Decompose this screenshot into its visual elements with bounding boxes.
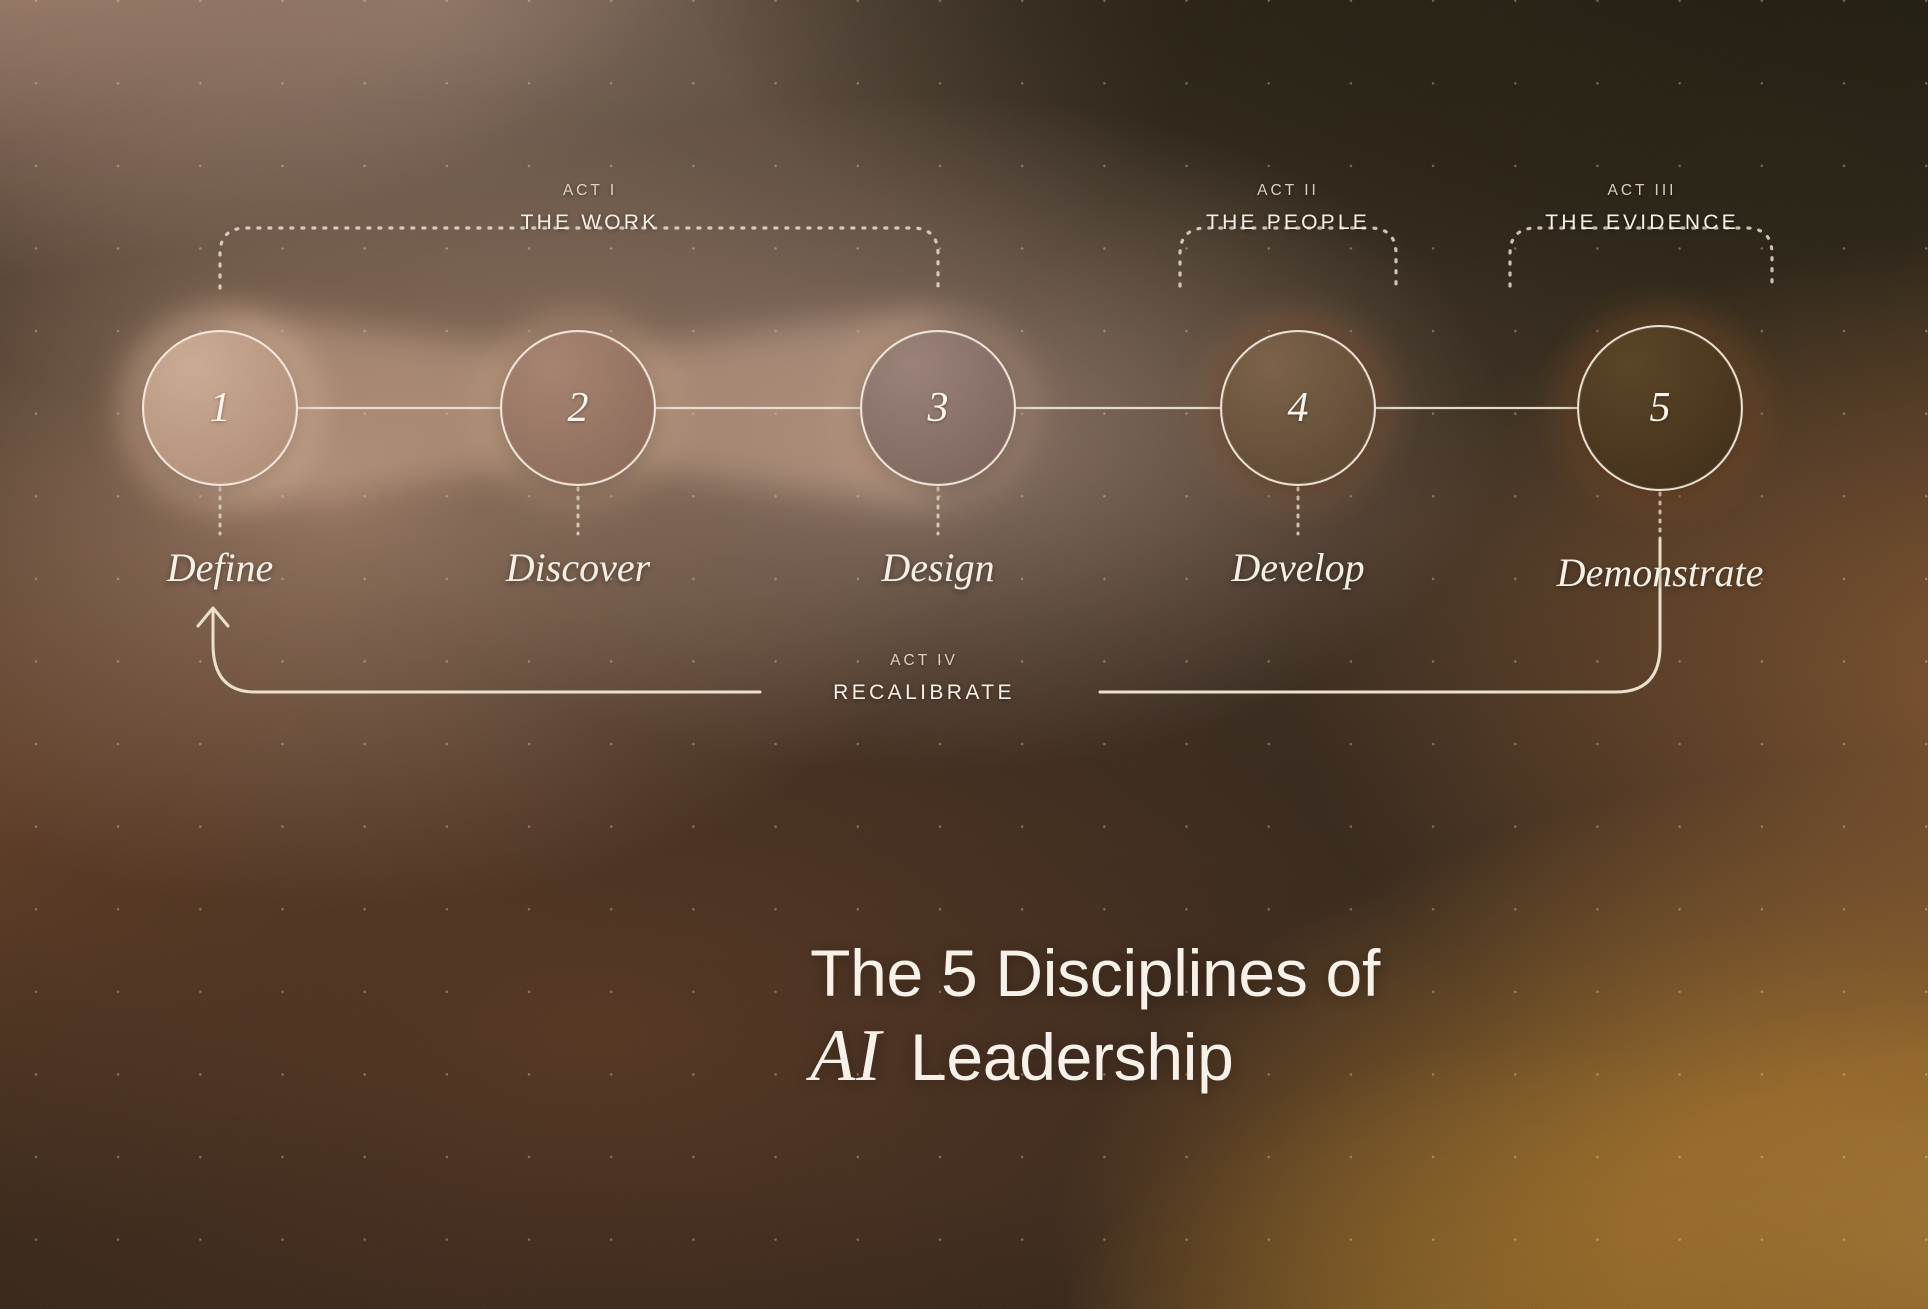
act-iv-label: ACT IV RECALIBRATE [833, 652, 1015, 705]
five-disciplines-diagram: 12345 DefineDiscoverDesignDevelopDemonst… [0, 0, 1928, 1309]
node-disc: 4 [1220, 330, 1376, 486]
node-label-demonstrate: Demonstrate [1557, 549, 1764, 596]
act-1-name: THE WORK [521, 211, 660, 235]
act-2-kicker: ACT II [1206, 182, 1370, 200]
node-number: 4 [1288, 387, 1309, 429]
title-emphasis-ai: AI [810, 1015, 892, 1097]
node-label-define: Define [167, 544, 274, 591]
node-number: 3 [928, 387, 949, 429]
discipline-node-2[interactable]: 2 [500, 330, 656, 486]
title-line-2: AI Leadership [810, 1013, 1380, 1100]
poster-canvas: 12345 DefineDiscoverDesignDevelopDemonst… [0, 0, 1928, 1309]
node-disc: 3 [860, 330, 1016, 486]
node-label-design: Design [881, 544, 994, 591]
act-3-label: ACT IIITHE EVIDENCE [1545, 182, 1739, 235]
node-number: 1 [210, 387, 231, 429]
node-disc: 2 [500, 330, 656, 486]
act-3-kicker: ACT III [1545, 182, 1739, 200]
discipline-node-5[interactable]: 5 [1577, 325, 1743, 491]
act-1-label: ACT ITHE WORK [521, 182, 660, 235]
act-iv-kicker: ACT IV [833, 652, 1015, 670]
title-line-2-rest: Leadership [892, 1020, 1234, 1094]
node-disc: 1 [142, 330, 298, 486]
node-label-discover: Discover [506, 544, 650, 591]
node-label-develop: Develop [1231, 544, 1364, 591]
discipline-node-3[interactable]: 3 [860, 330, 1016, 486]
poster-title: The 5 Disciplines of AI Leadership [810, 935, 1380, 1100]
act-2-name: THE PEOPLE [1206, 211, 1370, 235]
title-line-1: The 5 Disciplines of [810, 935, 1380, 1013]
act-1-kicker: ACT I [521, 182, 660, 200]
act-iv-name: RECALIBRATE [833, 681, 1015, 705]
recalibrate-left-path [213, 610, 760, 692]
act-3-name: THE EVIDENCE [1545, 211, 1739, 235]
node-number: 5 [1650, 387, 1671, 429]
node-number: 2 [568, 387, 589, 429]
act-2-label: ACT IITHE PEOPLE [1206, 182, 1370, 235]
discipline-node-1[interactable]: 1 [142, 330, 298, 486]
node-disc: 5 [1577, 325, 1743, 491]
discipline-node-4[interactable]: 4 [1220, 330, 1376, 486]
